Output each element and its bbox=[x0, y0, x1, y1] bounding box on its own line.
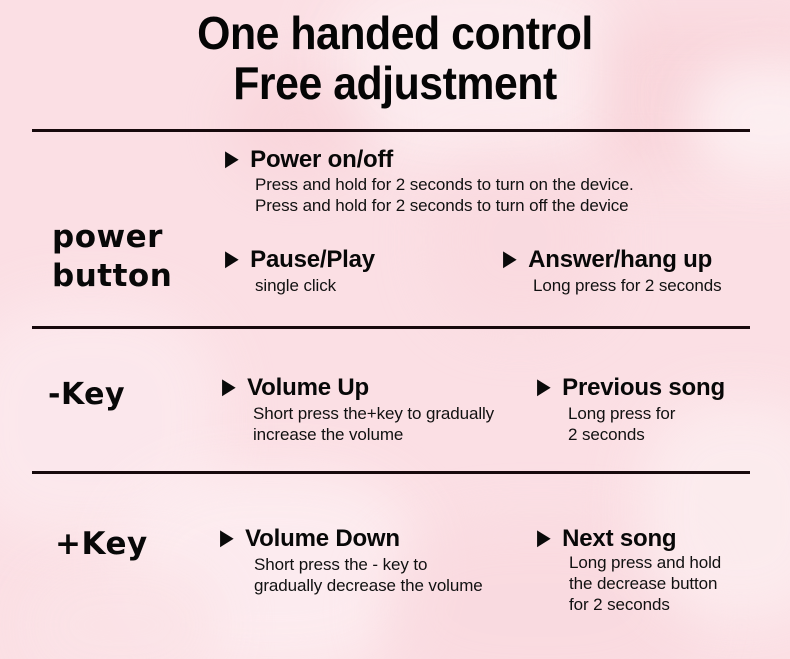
feature-title: Volume Down bbox=[245, 525, 400, 552]
feature-next-song: ▶ Next song Long press and hold the decr… bbox=[537, 525, 721, 615]
title-line-2: Free adjustment bbox=[28, 58, 763, 108]
feature-answer-hang-up: ▶ Answer/hang up Long press for 2 second… bbox=[503, 246, 722, 296]
feature-description: Long press for 2 seconds bbox=[533, 275, 722, 296]
triangle-bullet-icon: ▶ bbox=[537, 524, 551, 551]
feature-description: Short press the - key to gradually decre… bbox=[254, 554, 483, 596]
triangle-bullet-icon: ▶ bbox=[222, 373, 236, 400]
feature-pause-play: ▶ Pause/Play single click bbox=[225, 246, 375, 296]
feature-description: single click bbox=[255, 275, 375, 296]
feature-description: Long press and hold the decrease button … bbox=[569, 552, 721, 615]
section-label-minus-key: -Key bbox=[48, 378, 125, 412]
section-label-power-button: power button bbox=[52, 218, 172, 296]
feature-description: Long press for 2 seconds bbox=[568, 403, 725, 445]
feature-title: Answer/hang up bbox=[528, 246, 712, 273]
feature-previous-song: ▶ Previous song Long press for 2 seconds bbox=[537, 374, 725, 445]
divider-middle bbox=[32, 326, 750, 329]
feature-title: Previous song bbox=[562, 374, 725, 401]
feature-volume-up: ▶ Volume Up Short press the+key to gradu… bbox=[222, 374, 494, 445]
feature-power-on-off: ▶ Power on/off Press and hold for 2 seco… bbox=[225, 146, 634, 216]
triangle-bullet-icon: ▶ bbox=[225, 245, 239, 272]
divider-top bbox=[32, 129, 750, 132]
divider-bottom bbox=[32, 471, 750, 474]
page-title: One handed control Free adjustment bbox=[0, 8, 790, 108]
feature-volume-down: ▶ Volume Down Short press the - key to g… bbox=[220, 525, 483, 596]
feature-title: Next song bbox=[562, 525, 676, 552]
feature-description: Press and hold for 2 seconds to turn on … bbox=[255, 174, 634, 216]
triangle-bullet-icon: ▶ bbox=[225, 145, 239, 172]
triangle-bullet-icon: ▶ bbox=[537, 373, 551, 400]
feature-description: Short press the+key to gradually increas… bbox=[253, 403, 494, 445]
feature-title: Volume Up bbox=[247, 374, 369, 401]
title-line-1: One handed control bbox=[28, 8, 763, 58]
infographic-page: One handed control Free adjustment power… bbox=[0, 0, 790, 659]
feature-title: Pause/Play bbox=[250, 246, 375, 273]
feature-title: Power on/off bbox=[250, 146, 393, 173]
triangle-bullet-icon: ▶ bbox=[503, 245, 517, 272]
triangle-bullet-icon: ▶ bbox=[220, 524, 234, 551]
section-label-plus-key: +Key bbox=[55, 527, 148, 561]
